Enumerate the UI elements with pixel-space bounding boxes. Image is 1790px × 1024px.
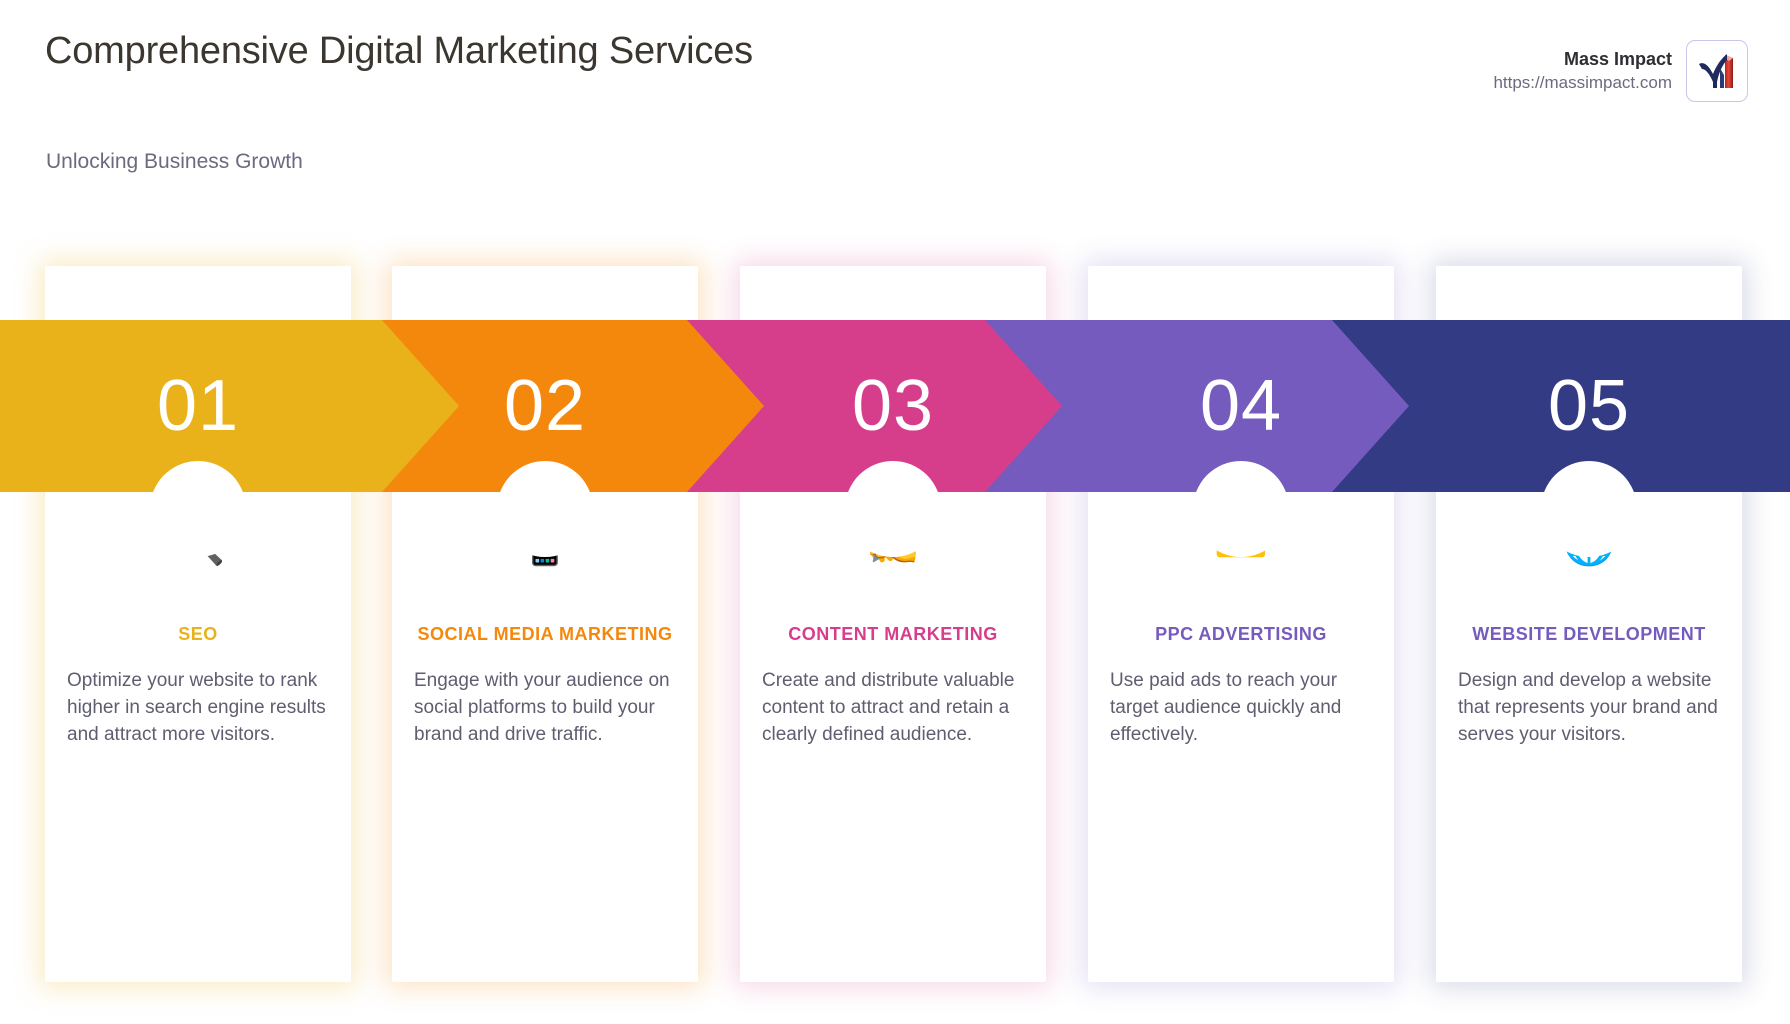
- step-description: Optimize your website to rank higher in …: [65, 668, 331, 749]
- icon-notch-05: [1541, 461, 1637, 557]
- step-number-01: 01: [45, 335, 351, 477]
- step-title: CONTENT MARKETING: [760, 621, 1026, 648]
- step-number-02: 02: [392, 335, 698, 477]
- step-title: SEO: [65, 621, 331, 648]
- step-description: Use paid ads to reach your target audien…: [1108, 668, 1374, 749]
- icon-notch-01: [150, 461, 246, 557]
- step-title: WEBSITE DEVELOPMENT: [1456, 621, 1722, 648]
- step-description: Design and develop a website that repres…: [1456, 668, 1722, 749]
- step-description: Create and distribute valuable content t…: [760, 668, 1026, 749]
- steps-strip: 🔍 SEO Optimize your website to rank high…: [0, 0, 1790, 1024]
- step-number-04: 04: [1088, 335, 1394, 477]
- step-number-03: 03: [740, 335, 1046, 477]
- infographic-page: Comprehensive Digital Marketing Services…: [0, 0, 1790, 1024]
- step-title: PPC ADVERTISING: [1108, 621, 1374, 648]
- step-title: SOCIAL MEDIA MARKETING: [412, 621, 678, 648]
- step-number-05: 05: [1436, 335, 1742, 477]
- icon-notch-03: [845, 461, 941, 557]
- step-description: Engage with your audience on social plat…: [412, 668, 678, 749]
- icon-notch-02: [497, 461, 593, 557]
- icon-notch-04: [1193, 461, 1289, 557]
